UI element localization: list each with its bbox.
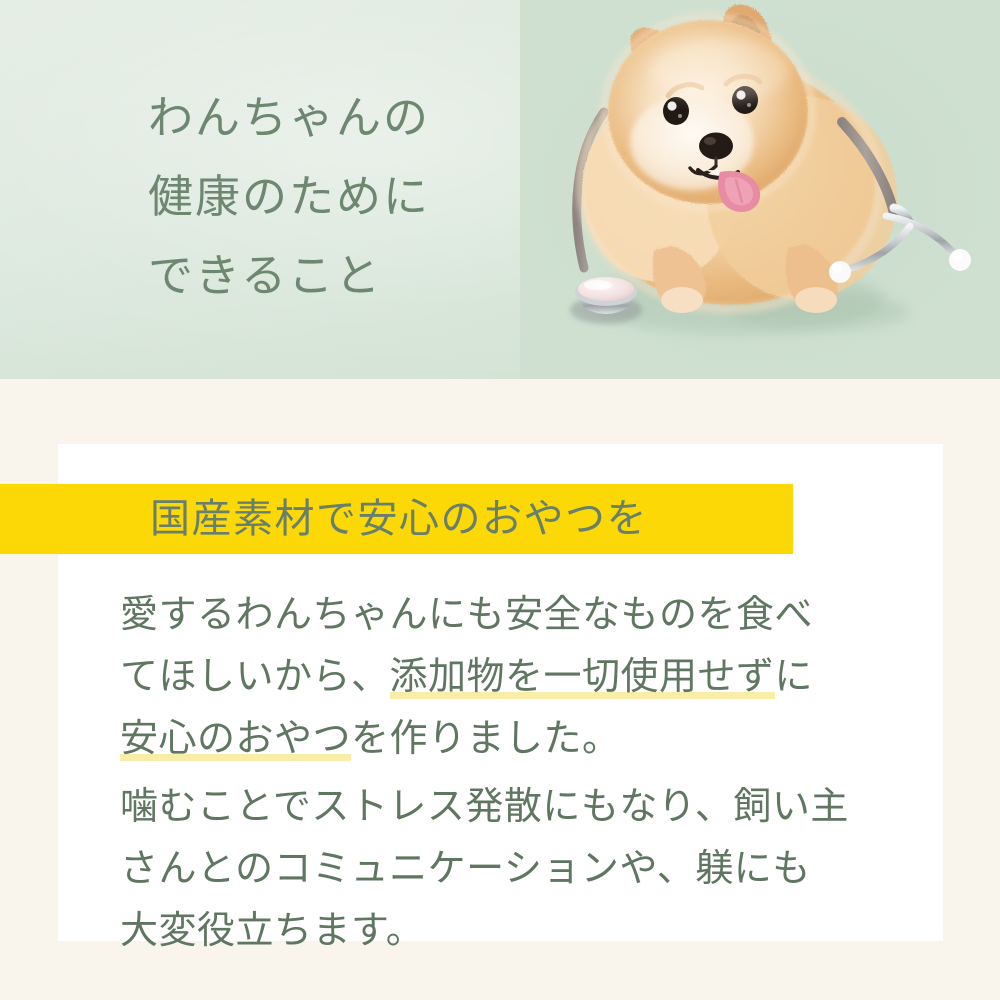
section-banner-label: 国産素材で安心のおやつを xyxy=(150,499,648,539)
text-segment: さんとのコミュニケーションや、躾にも xyxy=(120,848,811,890)
text-segment: てほしいから、 xyxy=(120,656,390,698)
dog-photo-illustration xyxy=(520,0,1000,379)
paragraph-1-line-1: 愛するわんちゃんにも安全なものを食べ xyxy=(120,584,920,646)
paragraph-2-line-1: 噛むことでストレス発散にもなり、飼い主 xyxy=(120,776,920,838)
paragraph-1: 愛するわんちゃんにも安全なものを食べ てほしいから、添加物を一切使用せずに 安心… xyxy=(120,584,920,770)
hero-section: わんちゃんの 健康のために できること xyxy=(0,0,1000,379)
content-card: 国産素材で安心のおやつを 愛するわんちゃんにも安全なものを食べ てほしいから、添… xyxy=(58,444,943,941)
text-segment: を作りました。 xyxy=(351,718,621,760)
text-segment: 愛するわんちゃんにも安全なものを食べ xyxy=(120,594,813,636)
stethoscope-chestpiece xyxy=(570,277,642,324)
paragraph-1-line-2: てほしいから、添加物を一切使用せずに xyxy=(120,646,920,708)
body-copy: 愛するわんちゃんにも安全なものを食べ てほしいから、添加物を一切使用せずに 安心… xyxy=(120,584,920,962)
text-segment: に xyxy=(775,656,814,698)
hero-photo-pomeranian-with-stethoscope xyxy=(520,0,1000,379)
highlighted-text-segment: 安心のおやつ xyxy=(120,718,351,761)
hero-title-line-1: わんちゃんの xyxy=(148,78,430,157)
hero-title-line-2: 健康のために xyxy=(148,157,430,236)
paragraph-1-line-3: 安心のおやつを作りました。 xyxy=(120,708,920,770)
hero-title-line-3: できること xyxy=(148,236,430,315)
paragraph-2: 噛むことでストレス発散にもなり、飼い主 さんとのコミュニケーションや、躾にも 大… xyxy=(120,776,920,962)
text-segment: 大変役立ちます。 xyxy=(120,910,424,952)
section-banner: 国産素材で安心のおやつを xyxy=(0,484,793,554)
text-segment: 噛むことでストレス発散にもなり、飼い主 xyxy=(120,786,849,828)
paragraph-2-line-2: さんとのコミュニケーションや、躾にも xyxy=(120,838,920,900)
hero-title: わんちゃんの 健康のために できること xyxy=(148,78,430,315)
highlighted-text-segment: 添加物を一切使用せず xyxy=(390,656,775,699)
paragraph-2-line-3: 大変役立ちます。 xyxy=(120,900,920,962)
